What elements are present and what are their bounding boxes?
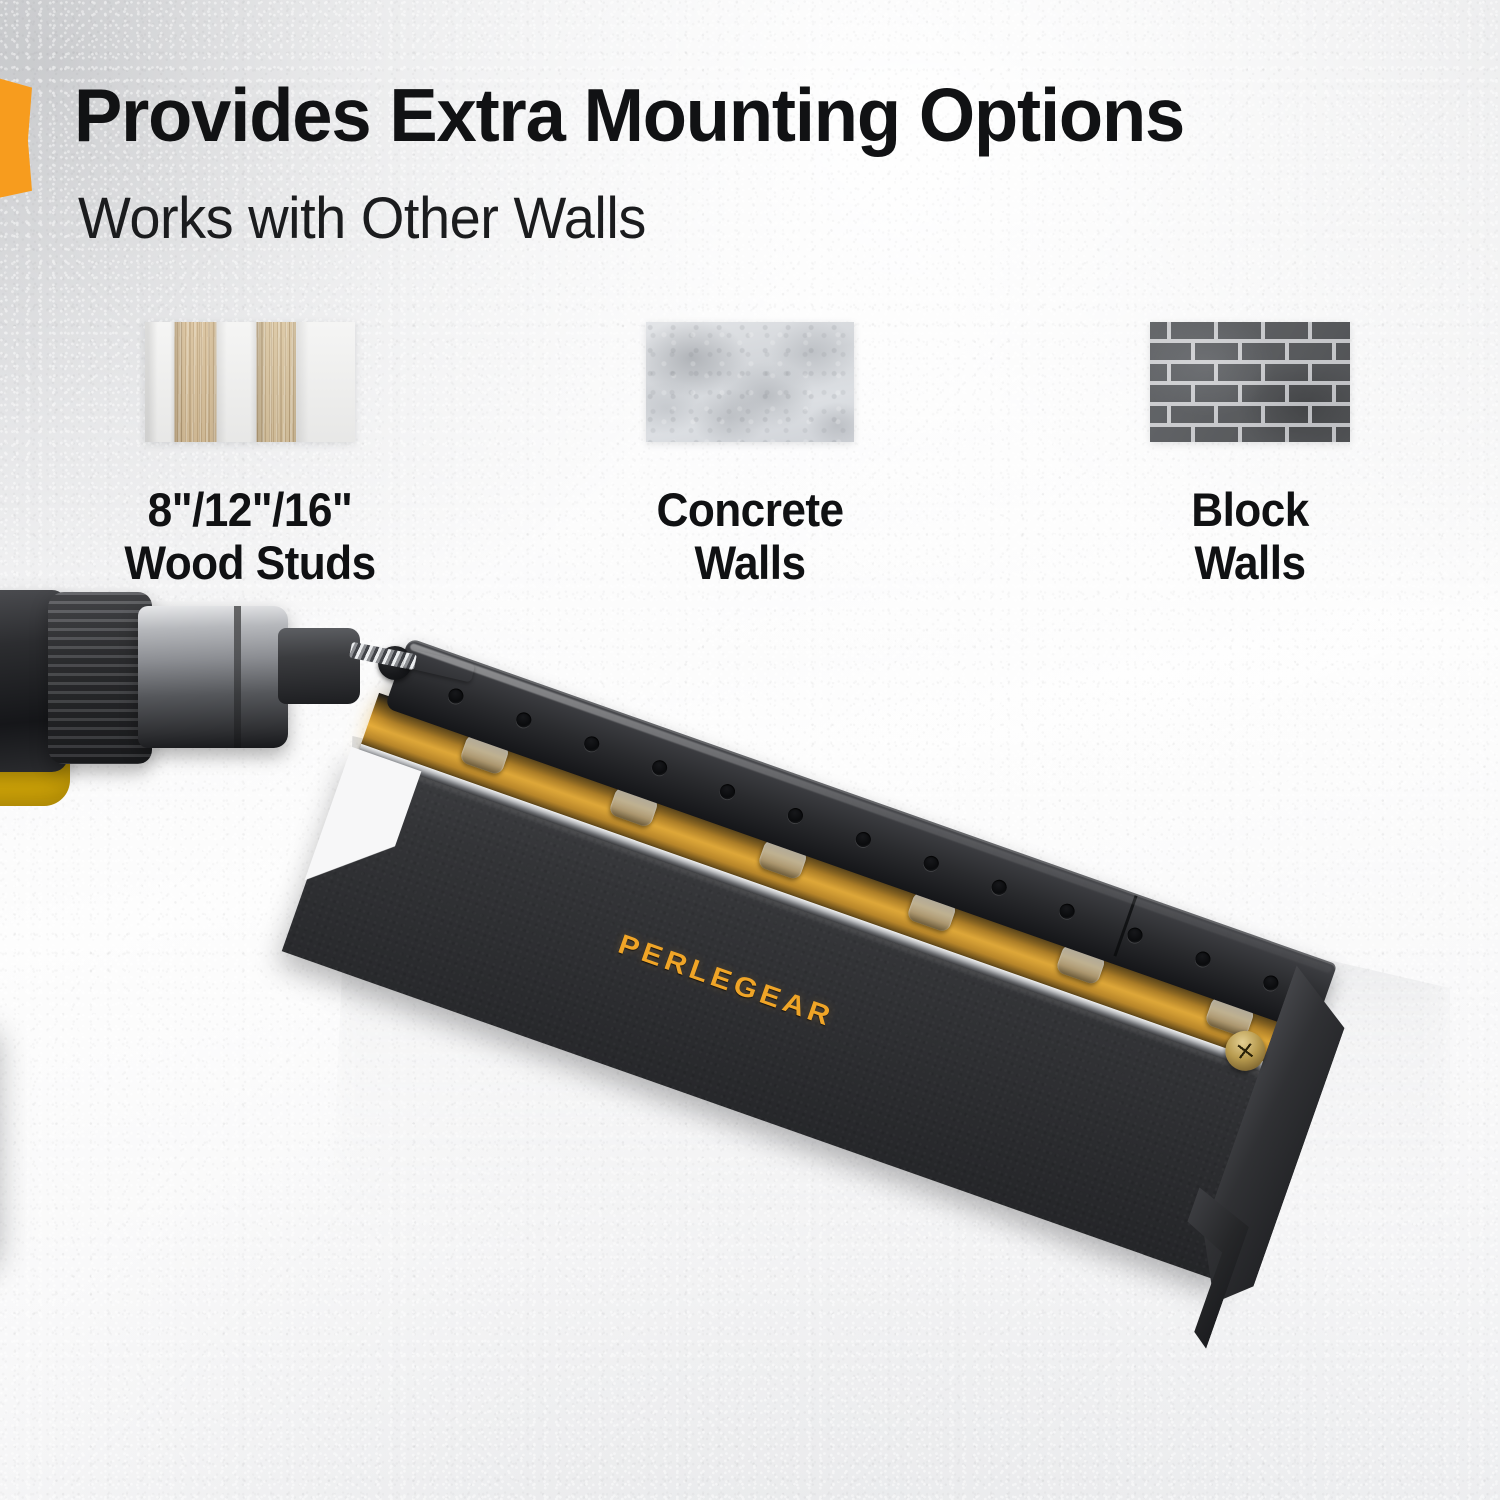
drill-clutch-ring: [48, 592, 152, 764]
brick-shading: [1150, 322, 1350, 442]
wall-type-label-line1: Block: [1015, 483, 1485, 536]
product-scene: PERLEGEAR: [0, 560, 1500, 1500]
page-title: Provides Extra Mounting Options: [74, 78, 1184, 153]
concrete-swatch: [646, 322, 854, 442]
drill-nose: [278, 628, 360, 704]
wall-type-label-line1: 8"/12"/16": [15, 483, 485, 536]
drill-shadow: [0, 1220, 40, 1340]
wall-type-card-concrete: Concrete Walls: [500, 322, 1000, 589]
page-subtitle: Works with Other Walls: [78, 190, 646, 248]
wood-studs-swatch: [145, 322, 355, 442]
wall-type-list: 8"/12"/16" Wood Studs Concrete Walls Blo…: [0, 322, 1500, 589]
product-infographic: Provides Extra Mounting Options Works wi…: [0, 0, 1500, 1500]
wall-type-card-wood-studs: 8"/12"/16" Wood Studs: [0, 322, 500, 589]
mounting-screw: [403, 648, 475, 682]
concrete-grain-texture: [646, 322, 854, 442]
drill-chuck: [138, 606, 288, 748]
brick-swatch: [1150, 322, 1350, 442]
orange-accent-marker: [0, 78, 32, 198]
wall-type-card-block: Block Walls: [1000, 322, 1500, 589]
wall-type-label-line1: Concrete: [515, 483, 985, 536]
wood-shading: [145, 322, 355, 442]
cordless-drill: [0, 560, 520, 1460]
